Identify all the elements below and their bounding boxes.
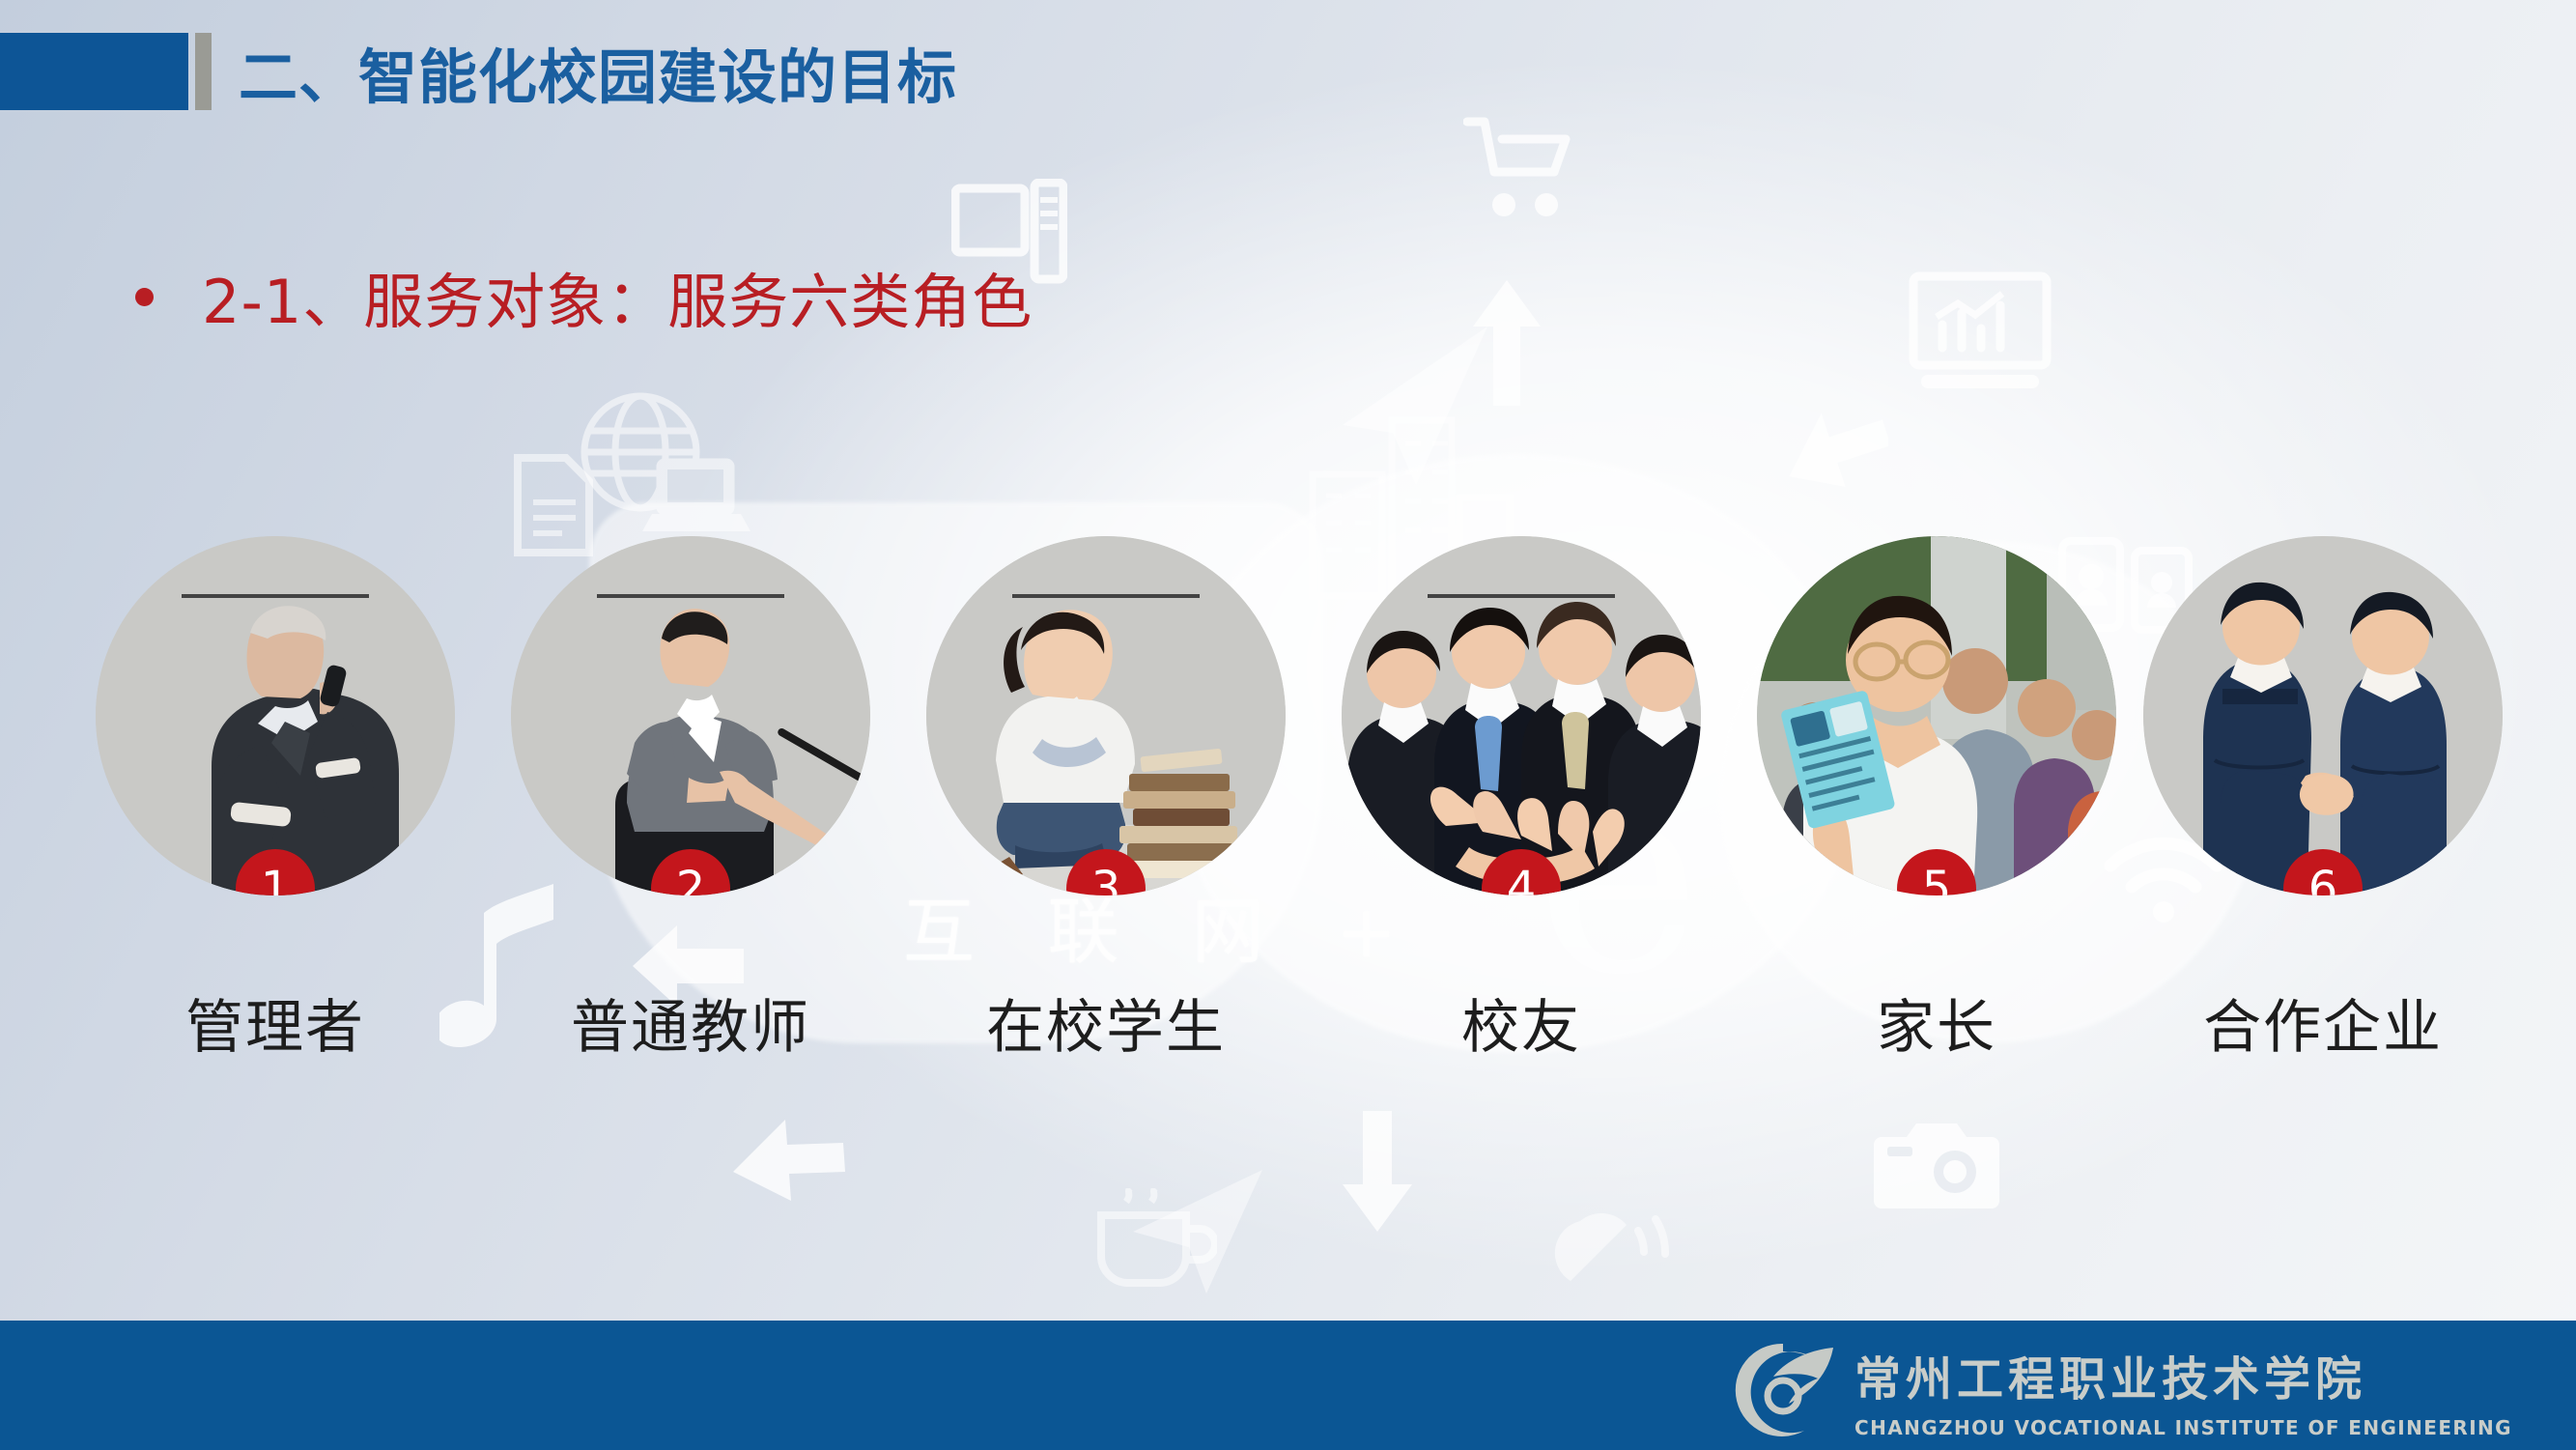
right-arrow-icon bbox=[1782, 401, 1888, 493]
role-item-4[interactable]: 4 校友 bbox=[1338, 536, 1705, 1065]
subtitle-bullet-line: 2-1、服务对象：服务六类角色 bbox=[135, 253, 1033, 340]
role-photo-3: 3 bbox=[926, 536, 1286, 896]
photo-rule-decoration bbox=[597, 594, 783, 598]
institution-name-block: 常州工程职业技术学院 CHANGZHOU VOCATIONAL INSTITUT… bbox=[1854, 1341, 2512, 1439]
photo-student-books bbox=[926, 536, 1286, 896]
photo-handshake bbox=[2143, 536, 2503, 896]
role-photo-1: 1 bbox=[96, 536, 455, 896]
photo-rule-decoration bbox=[1012, 594, 1199, 598]
satellite-icon bbox=[1545, 1188, 1681, 1304]
photo-parent-crowd bbox=[1757, 536, 2116, 896]
coffee-cup-icon bbox=[1091, 1188, 1217, 1299]
photo-teacher-pointer bbox=[511, 536, 870, 896]
institution-name-en: CHANGZHOU VOCATIONAL INSTITUTE OF ENGINE… bbox=[1854, 1416, 2512, 1439]
monitor-chart-icon bbox=[1908, 270, 2052, 396]
institution-logo: 常州工程职业技术学院 CHANGZHOU VOCATIONAL INSTITUT… bbox=[1729, 1336, 2512, 1444]
up-arrow-icon bbox=[1473, 280, 1541, 406]
header-bar-decoration bbox=[195, 33, 212, 110]
subtitle-text: 2-1、服务对象：服务六类角色 bbox=[202, 253, 1033, 340]
role-photo-2: 2 bbox=[511, 536, 870, 896]
role-item-3[interactable]: 3 在校学生 bbox=[922, 536, 1289, 1065]
role-label-2: 普通教师 bbox=[507, 981, 874, 1065]
role-photo-5: 5 bbox=[1757, 536, 2116, 896]
institution-mark-icon bbox=[1729, 1336, 1837, 1444]
cart-icon bbox=[1463, 116, 1579, 222]
role-photo-4: 4 bbox=[1342, 536, 1701, 896]
slide: e 互 联 网 + 二、智能化校园建设的目标 2-1、服务对象：服务六类角色 bbox=[0, 0, 2576, 1450]
header-block-decoration bbox=[0, 33, 188, 110]
role-photo-6: 6 bbox=[2143, 536, 2503, 896]
role-item-6[interactable]: 6 合作企业 bbox=[2139, 536, 2506, 1065]
slide-footer: 常州工程职业技术学院 CHANGZHOU VOCATIONAL INSTITUT… bbox=[0, 1321, 2576, 1450]
slide-header: 二、智能化校园建设的目标 bbox=[0, 33, 957, 110]
institution-name-cn: 常州工程职业技术学院 bbox=[1854, 1341, 2512, 1408]
photo-alumni-group bbox=[1342, 536, 1701, 896]
role-label-6: 合作企业 bbox=[2139, 981, 2506, 1065]
role-item-2[interactable]: 2 普通教师 bbox=[507, 536, 874, 1065]
role-label-5: 家长 bbox=[1753, 981, 2120, 1065]
photo-rule-decoration bbox=[182, 594, 368, 598]
bullet-dot-icon bbox=[135, 288, 154, 306]
role-label-1: 管理者 bbox=[92, 981, 459, 1065]
photo-manager-on-phone bbox=[96, 536, 455, 896]
role-label-4: 校友 bbox=[1338, 981, 1705, 1065]
page-title: 二、智能化校园建设的目标 bbox=[239, 29, 957, 115]
role-item-5[interactable]: 5 家长 bbox=[1753, 536, 2120, 1065]
role-label-3: 在校学生 bbox=[922, 981, 1289, 1065]
role-list: 1 管理者 bbox=[0, 536, 2576, 1154]
role-item-1[interactable]: 1 管理者 bbox=[92, 536, 459, 1065]
paper-plane-icon bbox=[1125, 1164, 1270, 1299]
photo-rule-decoration bbox=[1428, 594, 1614, 598]
